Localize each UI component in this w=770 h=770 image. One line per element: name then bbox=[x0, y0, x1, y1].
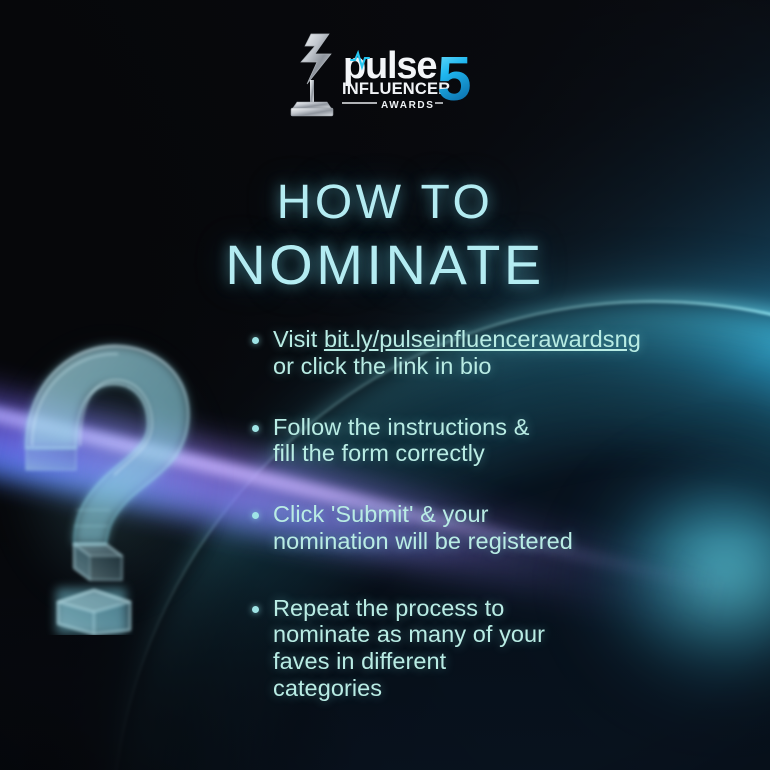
step-repeat-line-4: categories bbox=[273, 675, 382, 701]
step-repeat-line-2: nominate as many of your bbox=[273, 621, 545, 647]
step-submit-line-2: nomination will be registered bbox=[273, 528, 573, 554]
poster-canvas: pulse INFLUENCER AWARDS 5 HOW TO NOMINAT… bbox=[0, 0, 770, 770]
list-item: Click 'Submit' & your nomination will be… bbox=[252, 501, 722, 555]
nomination-link[interactable]: bit.ly/pulseinfluencerawardsng bbox=[324, 326, 641, 352]
trophy-icon bbox=[291, 34, 333, 116]
step-follow-line-1: Follow the instructions & bbox=[273, 414, 529, 440]
step-visit-link-text: Visit bit.ly/pulseinfluencerawardsng or … bbox=[273, 326, 641, 380]
nomination-steps-list: Visit bit.ly/pulseinfluencerawardsng or … bbox=[252, 326, 722, 724]
logo-awards: AWARDS bbox=[381, 100, 435, 111]
step-visit-suffix: or click the link in bio bbox=[273, 353, 492, 379]
list-item: Repeat the process to nominate as many o… bbox=[252, 595, 722, 702]
list-item: Follow the instructions & fill the form … bbox=[252, 414, 722, 468]
step-click-submit-text: Click 'Submit' & your nomination will be… bbox=[273, 501, 573, 555]
list-item: Visit bit.ly/pulseinfluencerawardsng or … bbox=[252, 326, 722, 380]
bullet-dot-icon bbox=[252, 337, 259, 344]
bullet-dot-icon bbox=[252, 425, 259, 432]
bullet-dot-icon bbox=[252, 512, 259, 519]
headline-line-2: NOMINATE bbox=[0, 234, 770, 297]
headline-line-1: HOW TO bbox=[0, 176, 770, 230]
question-mark-graphic bbox=[0, 330, 226, 635]
pulse-influencer-awards-logo: pulse INFLUENCER AWARDS 5 bbox=[285, 28, 485, 120]
step-visit-prefix: Visit bbox=[273, 326, 324, 352]
step-repeat-process-text: Repeat the process to nominate as many o… bbox=[273, 595, 545, 702]
logo-influencer: INFLUENCER bbox=[342, 80, 450, 98]
question-mark-icon bbox=[0, 330, 226, 635]
step-submit-line-1: Click 'Submit' & your bbox=[273, 501, 488, 527]
page-title: HOW TO NOMINATE bbox=[0, 176, 770, 296]
step-repeat-line-1: Repeat the process to bbox=[273, 595, 504, 621]
logo-edition-number: 5 bbox=[437, 45, 471, 114]
step-repeat-line-3: faves in different bbox=[273, 648, 446, 674]
bullet-dot-icon bbox=[252, 606, 259, 613]
step-follow-line-2: fill the form correctly bbox=[273, 440, 485, 466]
step-follow-instructions-text: Follow the instructions & fill the form … bbox=[273, 414, 529, 468]
